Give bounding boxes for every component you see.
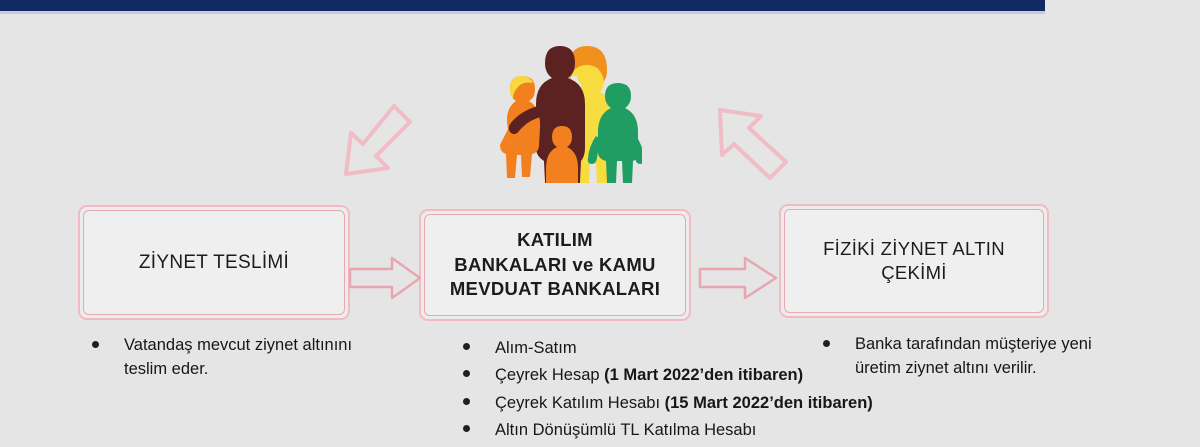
- top-navy-bar: [0, 0, 1045, 11]
- list-item-text: Vatandaş mevcut ziynet altınını teslim e…: [124, 334, 352, 382]
- arrow-right-icon-2: [697, 255, 779, 301]
- process-box-ziynet-teslimi[interactable]: ZİYNET TESLİMİ: [78, 205, 350, 320]
- bullet-list-left: Vatandaş mevcut ziynet altınını teslim e…: [92, 334, 392, 382]
- slide-canvas: ZİYNET TESLİMİ KATILIM BANKALARI ve KAMU…: [0, 0, 1200, 429]
- process-box-label: KATILIM BANKALARI ve KAMU MEVDUAT BANKAL…: [450, 228, 660, 301]
- list-item: Banka tarafından müşteriye yeni üretim z…: [823, 333, 1113, 381]
- bullet-dot-icon: [463, 343, 470, 350]
- bullet-dot-icon: [463, 398, 470, 405]
- arrow-down-left-icon: [336, 102, 414, 180]
- arrow-up-left-icon: [712, 102, 794, 184]
- list-item-clipped: Altın Dönüşümlü TL Katılma Hesabı: [463, 424, 983, 429]
- process-box-katilim-bankalari[interactable]: KATILIM BANKALARI ve KAMU MEVDUAT BANKAL…: [419, 209, 691, 321]
- list-item-text: Çeyrek Hesap (1 Mart 2022’den itibaren): [495, 364, 803, 388]
- list-item: Altın Dönüşümlü TL Katılma Hesabı: [463, 419, 893, 443]
- bullet-dot-icon: [823, 340, 830, 347]
- list-item-text: Alım-Satım: [495, 337, 577, 361]
- process-box-fiziki-ziynet-altin-cekimi[interactable]: FİZİKİ ZİYNET ALTIN ÇEKİMİ: [779, 204, 1049, 318]
- family-silhouette-icon: [486, 28, 642, 183]
- bullet-dot-icon: [463, 370, 470, 377]
- process-box-inner: FİZİKİ ZİYNET ALTIN ÇEKİMİ: [784, 209, 1044, 313]
- list-item-text: Altın Dönüşümlü TL Katılma Hesabı: [495, 424, 756, 429]
- process-box-label: ZİYNET TESLİMİ: [139, 250, 289, 275]
- process-box-label: FİZİKİ ZİYNET ALTIN ÇEKİMİ: [823, 237, 1005, 286]
- top-bar-underline: [0, 11, 1045, 14]
- list-item: Vatandaş mevcut ziynet altınını teslim e…: [92, 334, 392, 382]
- list-item: Çeyrek Katılım Hesabı (15 Mart 2022’den …: [463, 392, 893, 416]
- list-item-text: Banka tarafından müşteriye yeni üretim z…: [855, 333, 1092, 381]
- list-item-text: Çeyrek Katılım Hesabı (15 Mart 2022’den …: [495, 392, 873, 416]
- bullet-list-right: Banka tarafından müşteriye yeni üretim z…: [823, 333, 1113, 381]
- process-box-inner: KATILIM BANKALARI ve KAMU MEVDUAT BANKAL…: [424, 214, 686, 316]
- process-box-inner: ZİYNET TESLİMİ: [83, 210, 345, 315]
- bullet-dot-icon: [92, 341, 99, 348]
- list-item: Altın Dönüşümlü TL Katılma Hesabı: [463, 424, 983, 429]
- list-item-text: Altın Dönüşümlü TL Katılma Hesabı: [495, 419, 756, 443]
- arrow-right-icon-1: [347, 255, 423, 301]
